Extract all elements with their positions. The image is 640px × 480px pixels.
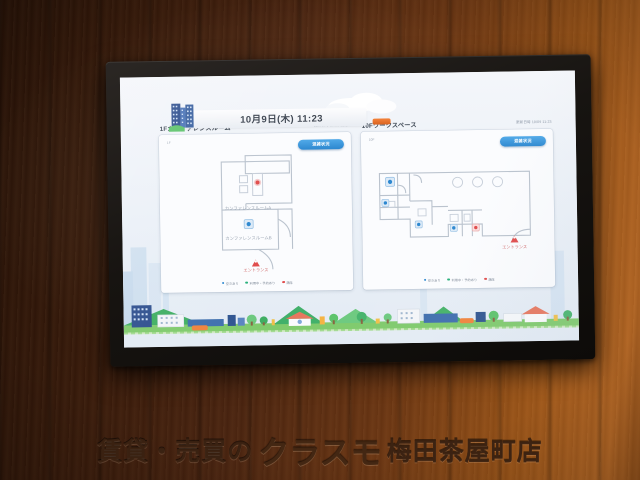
legend-item: 利用中・予約あり (447, 277, 477, 282)
room-marker-blue[interactable] (382, 199, 389, 206)
card-floor-label: 1F (167, 141, 171, 145)
legend-label: 利用中・予約あり (452, 277, 478, 282)
room-marker-blue[interactable] (415, 221, 422, 228)
legend-workspace: 空きあり 利用中・予約あり 満席 (363, 274, 555, 285)
sign-branch: 梅田茶屋町店 (387, 432, 543, 468)
room-marker-blue[interactable] (450, 224, 457, 231)
legend-dot-available (424, 279, 427, 282)
sign-brand: クラスモ (258, 428, 381, 473)
floor-card-conference[interactable]: 1Fカンファレンスルーム 更新日時 10/09 11:23 1F 混雑状況 (159, 132, 353, 293)
legend-item: 空きあり (424, 277, 441, 282)
header-datetime: 10月9日(木) 11:23 (200, 110, 362, 127)
legend-dot-inuse (245, 281, 248, 284)
shop-sign: 賃貸・売買の クラスモ 梅田茶屋町店 (0, 426, 640, 474)
header-banner: 10月9日(木) 11:23 (166, 99, 366, 132)
floor-plan-workspace[interactable]: エントランス (361, 143, 555, 274)
wall-mounted-display[interactable]: 10月9日(木) 11:23 1Fカンファレンスルーム 更新日時 10/09 1… (106, 54, 596, 367)
entrance-label: エントランス (243, 267, 268, 273)
legend-label: 満席 (488, 276, 494, 281)
entrance-marker[interactable] (510, 235, 518, 242)
legend-label: 空きあり (428, 277, 441, 282)
legend-dot-available (222, 282, 225, 285)
room-label-b: カンファレンスルームB (225, 235, 272, 242)
legend-dot-full (282, 281, 285, 284)
room-label-a: カンファレンスルームA (225, 205, 272, 212)
legend-dot-full (484, 278, 487, 281)
card-body: 10F 混雑状況 (361, 129, 555, 290)
card-floor-label: 10F (369, 138, 375, 142)
card-updated-time: 更新日時 10/09 11:23 (516, 120, 552, 126)
legend-label: 空きあり (226, 280, 239, 285)
legend-item: 満席 (282, 279, 293, 284)
legend-item: 満席 (484, 276, 495, 281)
display-screen[interactable]: 10月9日(木) 11:23 1Fカンファレンスルーム 更新日時 10/09 1… (120, 70, 579, 347)
floor-plan-conference[interactable]: カンファレンスルームA カンファレンスルームB エントランス (159, 146, 353, 277)
room-marker-red[interactable] (472, 224, 479, 231)
legend-conference: 空きあり 利用中・予約あり 満席 (161, 277, 353, 288)
train-icon (373, 118, 391, 124)
legend-label: 利用中・予約あり (250, 280, 276, 285)
room-marker-blue[interactable] (385, 177, 394, 186)
legend-dot-inuse (447, 278, 450, 281)
legend-item: 利用中・予約あり (245, 280, 275, 285)
entrance-label: エントランス (502, 244, 527, 250)
room-marker-red[interactable] (254, 179, 261, 186)
building-icon (168, 101, 196, 131)
sign-prefix: 賃貸・売買の (97, 432, 253, 468)
entrance-marker[interactable] (252, 259, 260, 266)
occupancy-dashboard-page: 10月9日(木) 11:23 1Fカンファレンスルーム 更新日時 10/09 1… (120, 70, 579, 347)
card-body: 1F 混雑状況 (159, 132, 353, 293)
legend-item: 空きあり (222, 280, 239, 285)
legend-label: 満席 (286, 279, 292, 284)
floor-card-workspace[interactable]: 10Fワークスペース 更新日時 10/09 11:23 10F 混雑状況 (361, 129, 555, 290)
room-marker-blue[interactable] (244, 220, 253, 229)
